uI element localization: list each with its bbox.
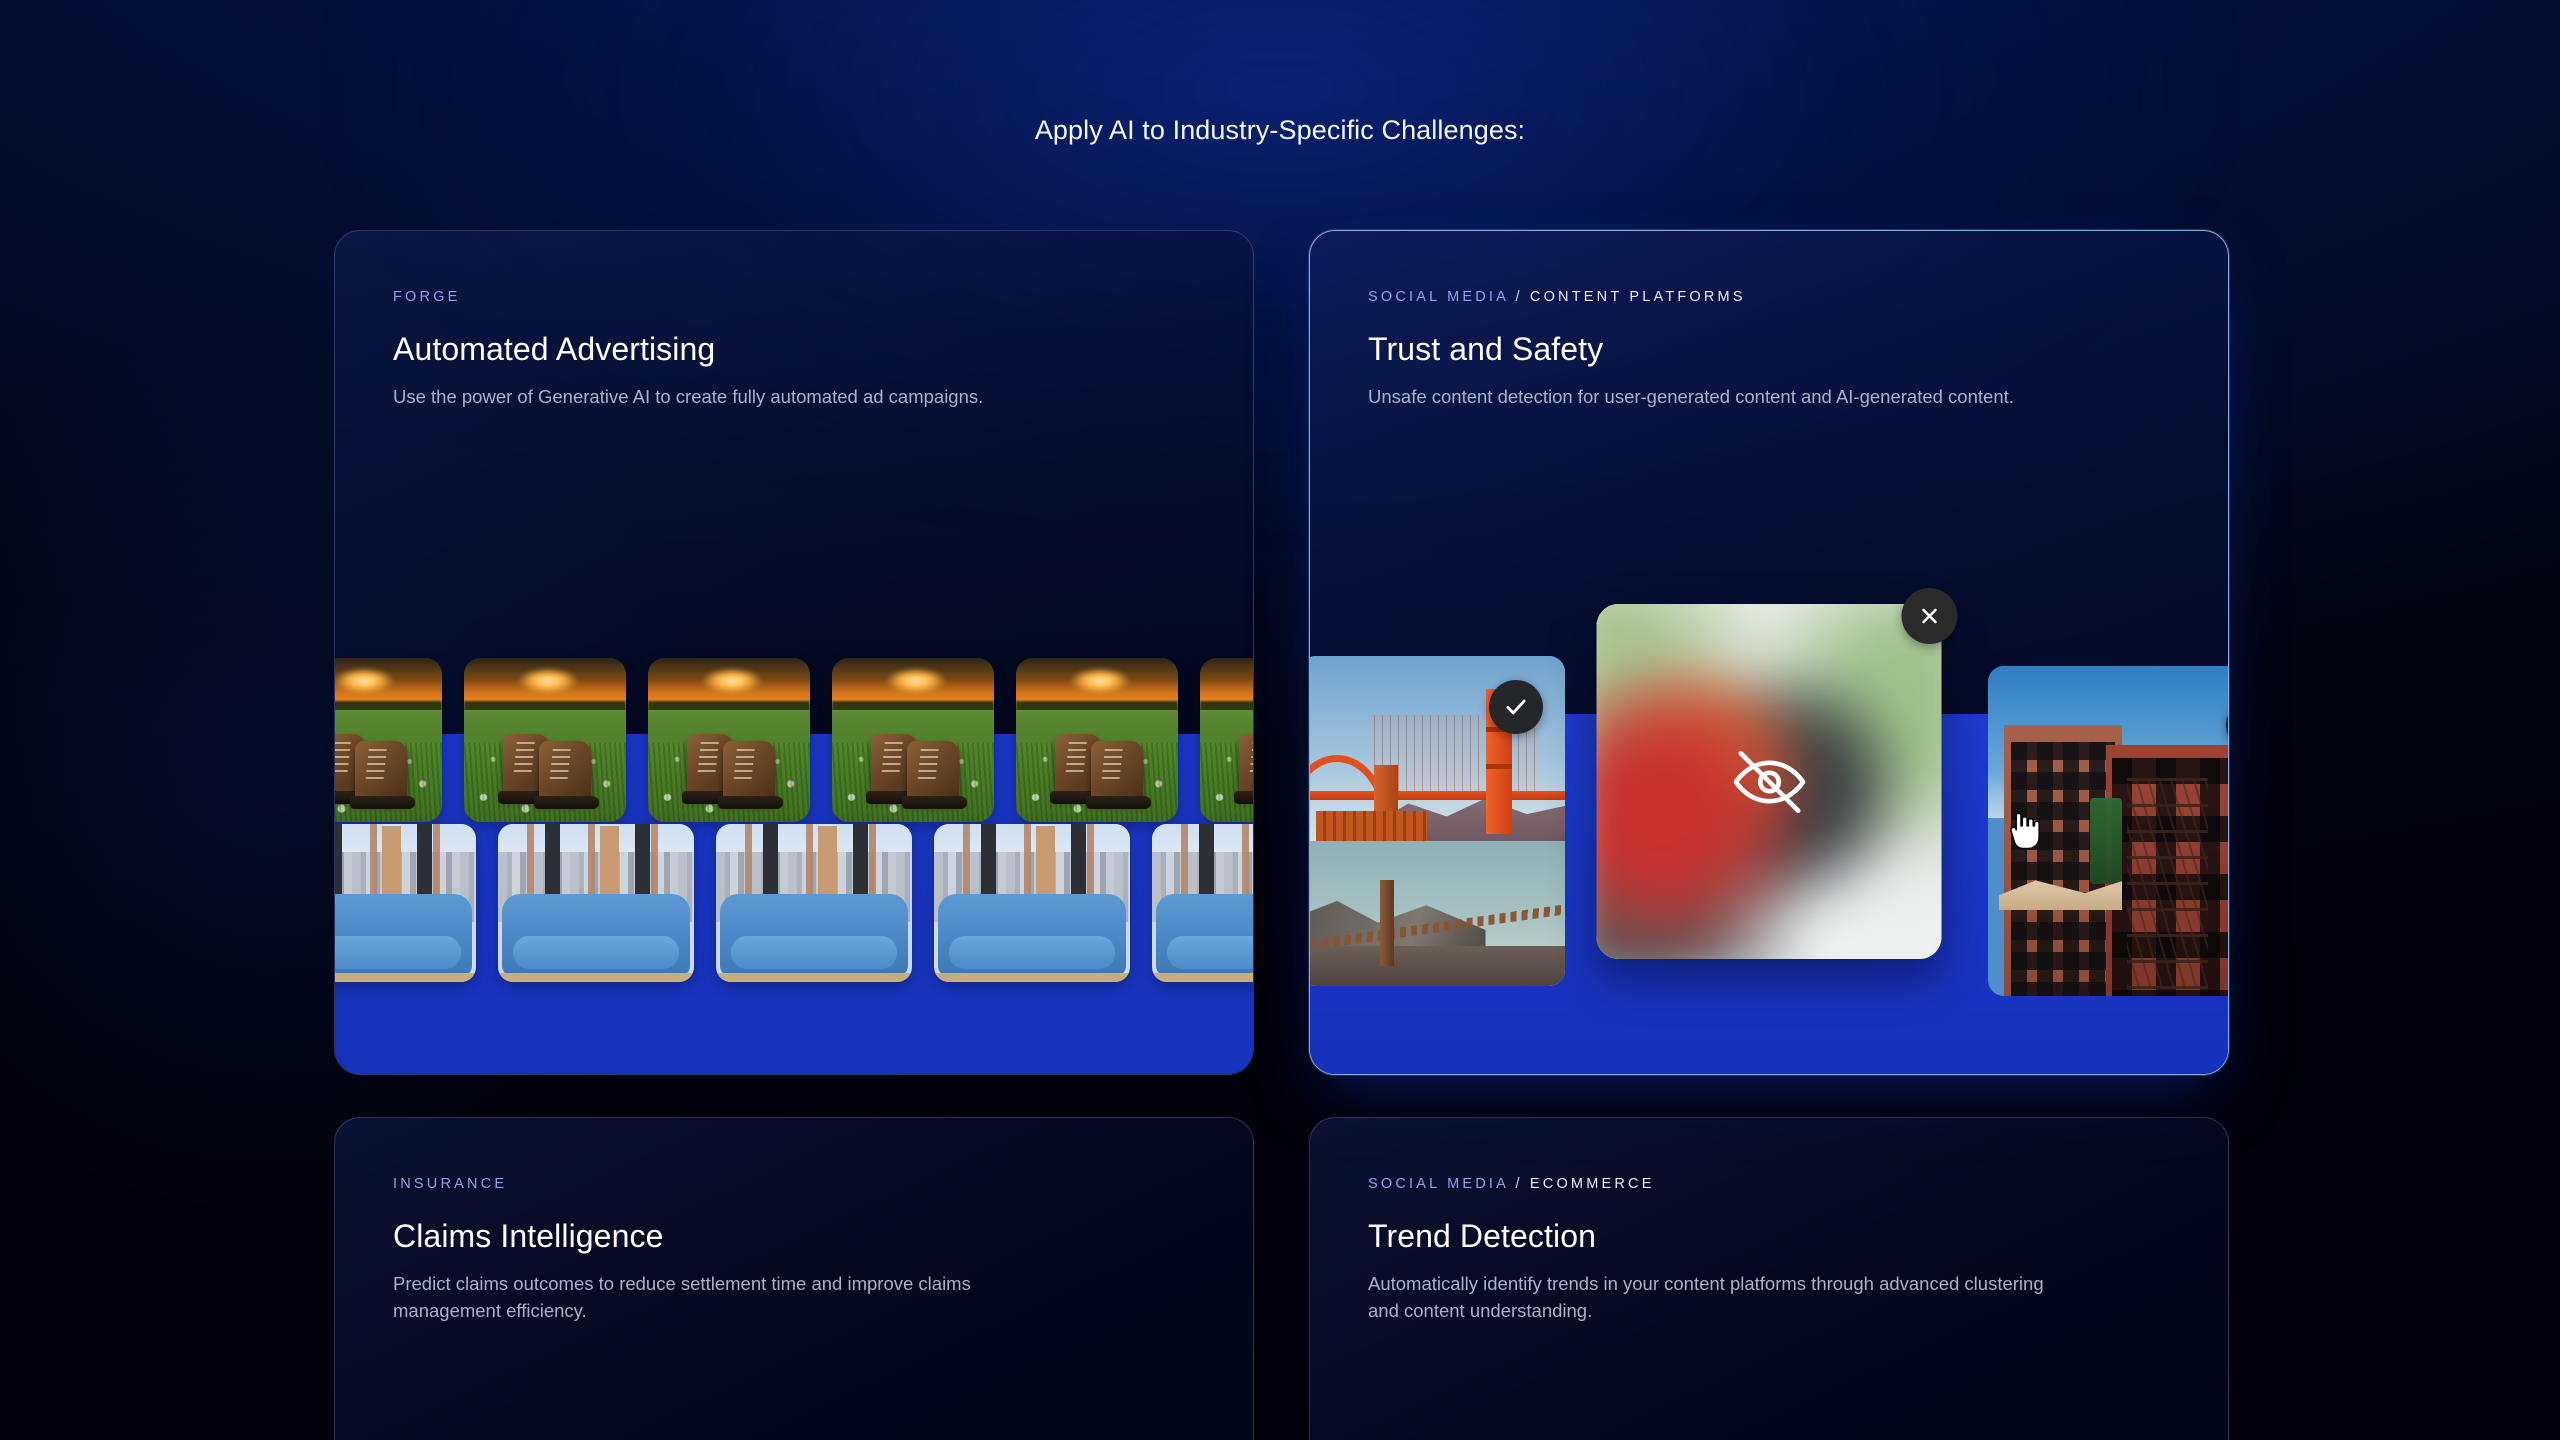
eyebrow-separator: / (1515, 289, 1522, 305)
sofa-thumbnail[interactable] (334, 824, 476, 982)
card-title: Trust and Safety (1368, 331, 2170, 368)
boot-thumbnail[interactable] (832, 658, 994, 822)
eyebrow-primary: SOCIAL MEDIA (1368, 1176, 1508, 1192)
card-eyebrow: INSURANCE (393, 1176, 1195, 1192)
card-eyebrow: FORGE (393, 289, 1195, 305)
card-title: Claims Intelligence (393, 1218, 1195, 1255)
boot-thumbnail[interactable] (1200, 658, 1254, 822)
sofa-thumbnail[interactable] (498, 824, 694, 982)
eyebrow-primary: SOCIAL MEDIA (1368, 289, 1508, 305)
industry-card-grid: FORGE Automated Advertising Use the powe… (334, 230, 2229, 1440)
card-description: Predict claims outcomes to reduce settle… (393, 1270, 1083, 1324)
card-description: Automatically identify trends in your co… (1368, 1270, 2058, 1324)
eyebrow-primary: FORGE (393, 289, 461, 305)
boot-image (334, 658, 442, 822)
card-header: SOCIAL MEDIA / CONTENT PLATFORMS Trust a… (1310, 231, 2228, 410)
card-description: Unsafe content detection for user-genera… (1368, 383, 2058, 410)
advertising-media-panel (335, 734, 1254, 1074)
sofa-image (334, 824, 476, 982)
card-eyebrow: SOCIAL MEDIA / ECOMMERCE (1368, 1176, 2170, 1192)
card-title: Automated Advertising (393, 331, 1195, 368)
card-trust-and-safety[interactable]: SOCIAL MEDIA / CONTENT PLATFORMS Trust a… (1309, 230, 2229, 1075)
moderation-items-row (1310, 604, 2228, 1074)
eyebrow-secondary: ECOMMERCE (1530, 1176, 1655, 1192)
card-claims-intelligence[interactable]: INSURANCE Claims Intelligence Predict cl… (334, 1117, 1254, 1440)
card-header: FORGE Automated Advertising Use the powe… (335, 231, 1253, 410)
moderation-item-brick-buildings[interactable] (1988, 666, 2229, 996)
boot-image (832, 658, 994, 822)
flagged-content-image (1597, 604, 1942, 959)
approve-badge[interactable] (1489, 680, 1543, 734)
reject-badge[interactable] (1902, 588, 1958, 644)
sofas-row[interactable] (334, 824, 1254, 982)
eyebrow-separator: / (1515, 1176, 1522, 1192)
eye-off-icon (1728, 741, 1810, 823)
sofa-thumbnail[interactable] (934, 824, 1130, 982)
moderation-item-flagged-content[interactable] (1597, 604, 1942, 959)
card-description: Use the power of Generative AI to create… (393, 383, 1083, 410)
boot-thumbnail[interactable] (648, 658, 810, 822)
sofa-image (716, 824, 912, 982)
card-header: SOCIAL MEDIA / ECOMMERCE Trend Detection… (1310, 1118, 2228, 1324)
sofa-image (934, 824, 1130, 982)
close-icon (1918, 604, 1942, 628)
card-automated-advertising[interactable]: FORGE Automated Advertising Use the powe… (334, 230, 1254, 1075)
check-icon (1503, 694, 1529, 720)
sofa-thumbnail[interactable] (1152, 824, 1254, 982)
boot-thumbnail[interactable] (464, 658, 626, 822)
page-title: Apply AI to Industry-Specific Challenges… (0, 115, 2560, 146)
card-title: Trend Detection (1368, 1218, 2170, 1255)
moderation-media-panel (1310, 714, 2228, 1074)
sofa-image (498, 824, 694, 982)
boot-thumbnail[interactable] (334, 658, 442, 822)
boot-image (464, 658, 626, 822)
card-eyebrow: SOCIAL MEDIA / CONTENT PLATFORMS (1368, 289, 2170, 305)
boot-image (1016, 658, 1178, 822)
card-trend-detection[interactable]: SOCIAL MEDIA / ECOMMERCE Trend Detection… (1309, 1117, 2229, 1440)
moderation-item-golden-gate-bridge[interactable] (1309, 656, 1565, 986)
boot-thumbnail[interactable] (1016, 658, 1178, 822)
boots-row[interactable] (334, 658, 1254, 822)
sofa-thumbnail[interactable] (716, 824, 912, 982)
eyebrow-secondary: CONTENT PLATFORMS (1530, 289, 1746, 305)
boot-image (1200, 658, 1254, 822)
eyebrow-primary: INSURANCE (393, 1176, 507, 1192)
sofa-image (1152, 824, 1254, 982)
brick-buildings-image (1988, 666, 2229, 996)
card-header: INSURANCE Claims Intelligence Predict cl… (335, 1118, 1253, 1324)
boot-image (648, 658, 810, 822)
